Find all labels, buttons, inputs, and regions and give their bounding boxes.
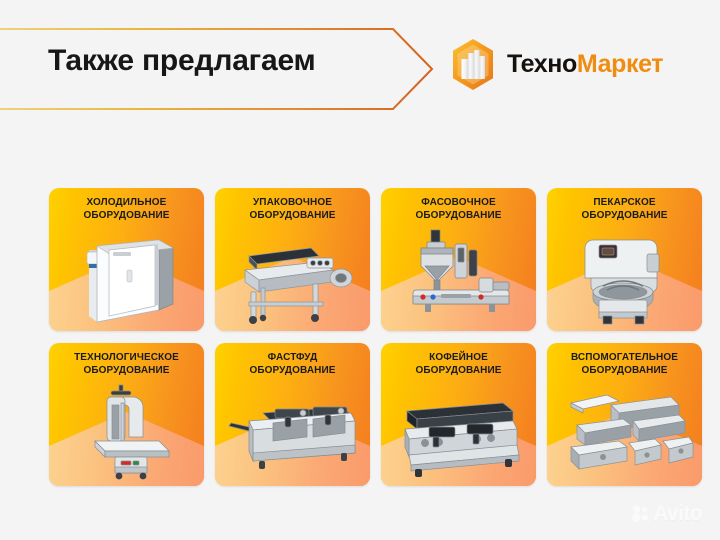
category-card-filling[interactable]: ФАСОВОЧНОЕ ОБОРУДОВАНИЕ: [381, 188, 536, 331]
cold-room-chamber-icon: [49, 226, 204, 327]
category-card-auxiliary[interactable]: ВСПОМОГАТЕЛЬНОЕ ОБОРУДОВАНИЕ: [547, 343, 702, 486]
category-grid: ХОЛОДИЛЬНОЕ ОБОРУДОВАНИЕ: [49, 188, 673, 486]
filling-dosing-machine-icon: [381, 226, 536, 327]
hexagon-buildings-logo-icon: [448, 37, 498, 92]
card-label: ФАСТФУД ОБОРУДОВАНИЕ: [215, 352, 370, 377]
card-label: ВСПОМОГАТЕЛЬНОЕ ОБОРУДОВАНИЕ: [547, 352, 702, 377]
brand-name-part1: Техно: [507, 50, 577, 78]
card-label-line1: КОФЕЙНОЕ: [429, 352, 488, 363]
espresso-coffee-machine-icon: [381, 381, 536, 482]
card-label-line1: ПЕКАРСКОЕ: [593, 197, 655, 208]
brand-name-part2: Маркет: [577, 50, 663, 78]
avito-dots-icon: [632, 505, 649, 522]
card-label-line2: ОБОРУДОВАНИЕ: [415, 210, 501, 221]
category-card-bakery[interactable]: ПЕКАРСКОЕ ОБОРУДОВАНИЕ: [547, 188, 702, 331]
page-header: Также предлагаем: [0, 0, 720, 140]
card-label-line2: ОБОРУДОВАНИЕ: [249, 210, 335, 221]
avito-wordmark: Avito: [653, 503, 702, 524]
card-label-line2: ОБОРУДОВАНИЕ: [415, 365, 501, 376]
card-label: ФАСОВОЧНОЕ ОБОРУДОВАНИЕ: [381, 197, 536, 222]
category-card-coffee[interactable]: КОФЕЙНОЕ ОБОРУДОВАНИЕ: [381, 343, 536, 486]
card-label: ПЕКАРСКОЕ ОБОРУДОВАНИЕ: [547, 197, 702, 222]
card-label-line1: УПАКОВОЧНОЕ: [253, 197, 332, 208]
card-label-line1: ТЕХНОЛОГИЧЕСКОЕ: [74, 352, 179, 363]
category-card-cold[interactable]: ХОЛОДИЛЬНОЕ ОБОРУДОВАНИЕ: [49, 188, 204, 331]
page-title: Также предлагаем: [48, 44, 316, 78]
band-saw-icon: [49, 381, 204, 482]
spiral-dough-mixer-icon: [547, 226, 702, 327]
card-label-line2: ОБОРУДОВАНИЕ: [83, 210, 169, 221]
category-card-packaging[interactable]: УПАКОВОЧНОЕ ОБОРУДОВАНИЕ: [215, 188, 370, 331]
brand-name: ТехноМаркет: [507, 52, 663, 77]
brand-logo[interactable]: ТехноМаркет: [448, 37, 663, 92]
card-label-line2: ОБОРУДОВАНИЕ: [249, 365, 335, 376]
card-label-line2: ОБОРУДОВАНИЕ: [581, 210, 667, 221]
card-label-line2: ОБОРУДОВАНИЕ: [581, 365, 667, 376]
card-label: УПАКОВОЧНОЕ ОБОРУДОВАНИЕ: [215, 197, 370, 222]
double-deep-fryer-icon: [215, 381, 370, 482]
category-card-technological[interactable]: ТЕХНОЛОГИЧЕСКОЕ ОБОРУДОВАНИЕ: [49, 343, 204, 486]
card-label-line1: ВСПОМОГАТЕЛЬНОЕ: [571, 352, 678, 363]
card-label: КОФЕЙНОЕ ОБОРУДОВАНИЕ: [381, 352, 536, 377]
category-card-fastfood[interactable]: ФАСТФУД ОБОРУДОВАНИЕ: [215, 343, 370, 486]
card-label-line2: ОБОРУДОВАНИЕ: [83, 365, 169, 376]
gastronorm-trays-icon: [547, 381, 702, 482]
card-label: ХОЛОДИЛЬНОЕ ОБОРУДОВАНИЕ: [49, 197, 204, 222]
avito-watermark: Avito: [632, 503, 702, 524]
card-label-line1: ХОЛОДИЛЬНОЕ: [87, 197, 167, 208]
card-label-line1: ФАСОВОЧНОЕ: [421, 197, 495, 208]
card-label: ТЕХНОЛОГИЧЕСКОЕ ОБОРУДОВАНИЕ: [49, 352, 204, 377]
shrink-wrap-machine-icon: [215, 226, 370, 327]
card-label-line1: ФАСТФУД: [268, 352, 318, 363]
